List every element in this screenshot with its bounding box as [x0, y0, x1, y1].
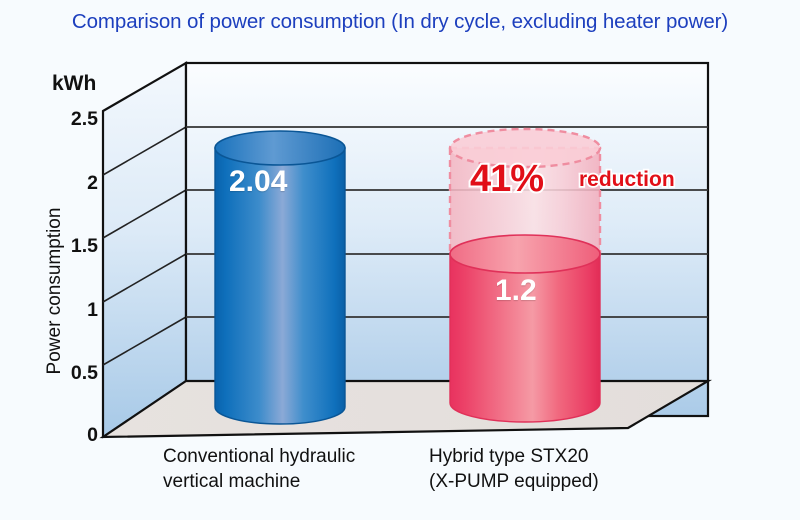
bar-value-label-1: 2.04: [229, 165, 287, 199]
category-label-conventional-line1: Conventional hydraulic: [163, 444, 355, 469]
category-label-conventional: Conventional hydraulic vertical machine: [163, 444, 355, 494]
category-label-conventional-line2: vertical machine: [163, 469, 355, 494]
chart-container: Comparison of power consumption (In dry …: [0, 0, 800, 520]
category-label-hybrid-line2: (X-PUMP equipped): [429, 469, 599, 494]
reduction-word-label: reduction: [579, 168, 675, 192]
plot-area-3d: [0, 0, 800, 520]
bar-value-label-2: 1.2: [495, 274, 537, 308]
plot-floor: [103, 381, 708, 437]
reduction-percent-label: 41%: [470, 158, 543, 201]
plot-side-wall: [103, 63, 186, 437]
category-label-hybrid: Hybrid type STX20 (X-PUMP equipped): [429, 444, 599, 494]
category-label-hybrid-line1: Hybrid type STX20: [429, 444, 599, 469]
bar-hybrid-stx20: [450, 235, 600, 422]
